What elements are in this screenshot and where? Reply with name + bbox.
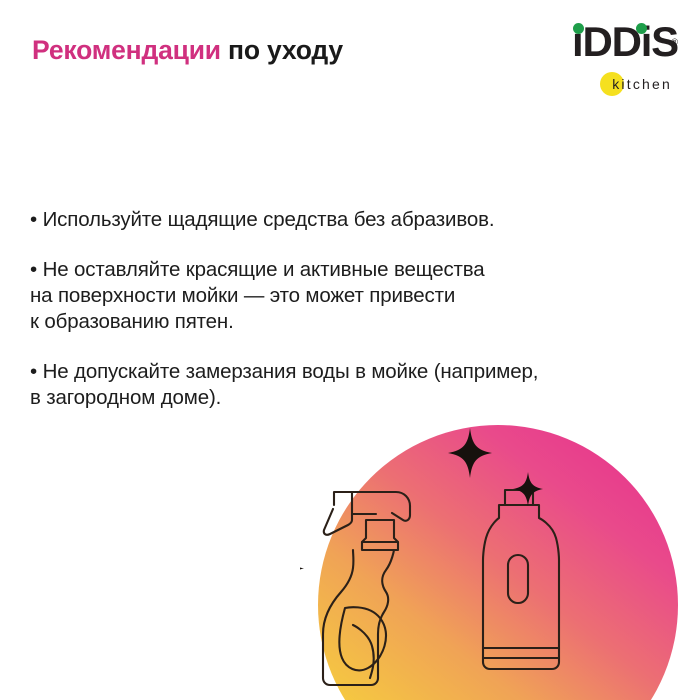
list-item: • Используйте щадящие средства без абраз… [30,207,670,233]
logo-wordmark-text: iDDiS [572,20,678,64]
iddis-kitchen-logo: iDDiS ® kitchen [538,20,678,108]
page-title-plain: по уходу [221,35,343,65]
registered-trademark-icon: ® [671,38,678,47]
page-title-accent: Рекомендации [32,35,221,65]
logo-subtitle-row: kitchen [538,72,678,102]
detergent-bottle-icon [483,490,559,669]
sparkle-small-icon [300,550,304,587]
cleaning-products-line-art [300,410,700,700]
sparkle-medium-icon [513,472,543,506]
spray-bottle-icon [323,492,410,685]
list-item: • Не оставляйте красящие и активные веще… [30,257,670,335]
logo-wordmark-row: iDDiS ® [538,20,678,64]
logo-subtitle-wrap: kitchen [600,72,674,96]
logo-green-dot-first-i-icon [573,23,584,34]
page-title: Рекомендации по уходу [32,37,343,64]
list-item: • Не допускайте замерзания воды в мойке … [30,359,670,411]
sparkle-large-icon [448,428,492,478]
care-tips-list: • Используйте щадящие средства без абраз… [30,186,670,411]
logo-subtitle-text: kitchen [612,76,672,92]
logo-wordmark-letters: iDDiS [572,18,678,65]
slide-header: Рекомендации по уходу iDDiS ® kitchen [0,0,700,120]
care-recommendations-slide: Рекомендации по уходу iDDiS ® kitchen • … [0,0,700,700]
cleaning-products-illustration [300,410,700,700]
logo-green-dot-second-i-icon [636,23,647,34]
